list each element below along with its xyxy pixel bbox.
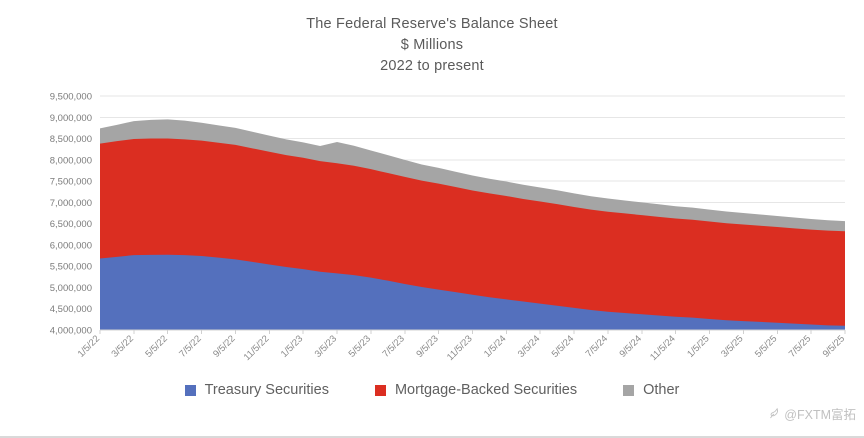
x-axis-tick-label: 3/5/24: [516, 333, 542, 359]
x-axis-tick-label: 5/5/24: [550, 333, 576, 359]
y-axis-tick-label: 8,000,000: [50, 155, 92, 166]
y-axis-tick-label: 8,500,000: [50, 134, 92, 145]
y-axis-tick-label: 5,500,000: [50, 262, 92, 273]
y-axis-tick-label: 4,500,000: [50, 304, 92, 315]
x-axis-tick-label: 5/5/22: [143, 333, 169, 359]
x-axis-tick-label: 9/5/22: [211, 333, 237, 359]
x-axis-tick-label: 3/5/23: [313, 333, 339, 359]
y-axis-tick-label: 7,000,000: [50, 198, 92, 209]
x-axis-tick-label: 3/5/25: [719, 333, 745, 359]
y-axis-tick-label: 7,500,000: [50, 177, 92, 188]
x-axis-tick-label: 5/5/25: [753, 333, 779, 359]
chart-container: The Federal Reserve's Balance Sheet $ Mi…: [0, 0, 864, 438]
legend-item[interactable]: Mortgage-Backed Securities: [375, 382, 577, 398]
legend-swatch-other: [623, 385, 634, 396]
x-axis-tick-label: 7/5/23: [380, 333, 406, 359]
feather-icon: [767, 407, 780, 420]
x-axis-tick-label: 7/5/22: [177, 333, 203, 359]
x-axis-tick-label: 3/5/22: [110, 333, 136, 359]
axis-lines: [100, 330, 845, 334]
y-axis-tick-labels: 9,500,0009,000,0008,500,0008,000,0007,50…: [50, 92, 92, 337]
legend-item-label: Other: [643, 382, 679, 398]
chart-legend: Treasury SecuritiesMortgage-Backed Secur…: [0, 382, 864, 398]
x-axis-tick-label: 7/5/24: [584, 333, 610, 359]
x-axis-tick-label: 9/5/24: [617, 333, 643, 359]
x-axis-tick-label: 5/5/23: [347, 333, 373, 359]
x-axis-tick-label: 1/5/24: [482, 333, 508, 359]
legend-item[interactable]: Other: [623, 382, 679, 398]
x-axis-tick-label: 11/5/24: [648, 333, 678, 363]
legend-swatch-mbs: [375, 385, 386, 396]
x-axis-tick-label: 1/5/23: [279, 333, 305, 359]
x-axis-tick-labels: 1/5/223/5/225/5/227/5/229/5/2211/5/221/5…: [76, 333, 847, 363]
y-axis-tick-label: 5,000,000: [50, 283, 92, 294]
y-axis-tick-label: 6,000,000: [50, 240, 92, 251]
stacked-area-plot: 9,500,0009,000,0008,500,0008,000,0007,50…: [0, 0, 864, 438]
y-axis-tick-label: 9,500,000: [50, 92, 92, 103]
watermark-text: @FXTM富拓: [784, 404, 856, 423]
legend-item[interactable]: Treasury Securities: [185, 382, 329, 398]
x-axis-tick-label: 11/5/22: [242, 333, 272, 363]
x-axis-tick-label: 9/5/23: [414, 333, 440, 359]
watermark: @FXTM富拓: [767, 404, 856, 423]
x-axis-tick-label: 1/5/25: [685, 333, 711, 359]
x-axis-tick-label: 9/5/25: [821, 333, 847, 359]
legend-item-label: Treasury Securities: [205, 382, 329, 398]
x-axis-tick-label: 1/5/22: [76, 333, 102, 359]
y-axis-tick-label: 9,000,000: [50, 113, 92, 124]
legend-item-label: Mortgage-Backed Securities: [395, 382, 577, 398]
y-axis-tick-label: 6,500,000: [50, 219, 92, 230]
legend-swatch-treasury: [185, 385, 196, 396]
y-axis-tick-label: 4,000,000: [50, 326, 92, 337]
x-axis-tick-label: 11/5/23: [445, 333, 475, 363]
x-axis-tick-label: 7/5/25: [787, 333, 813, 359]
area-series-group: [100, 119, 845, 330]
